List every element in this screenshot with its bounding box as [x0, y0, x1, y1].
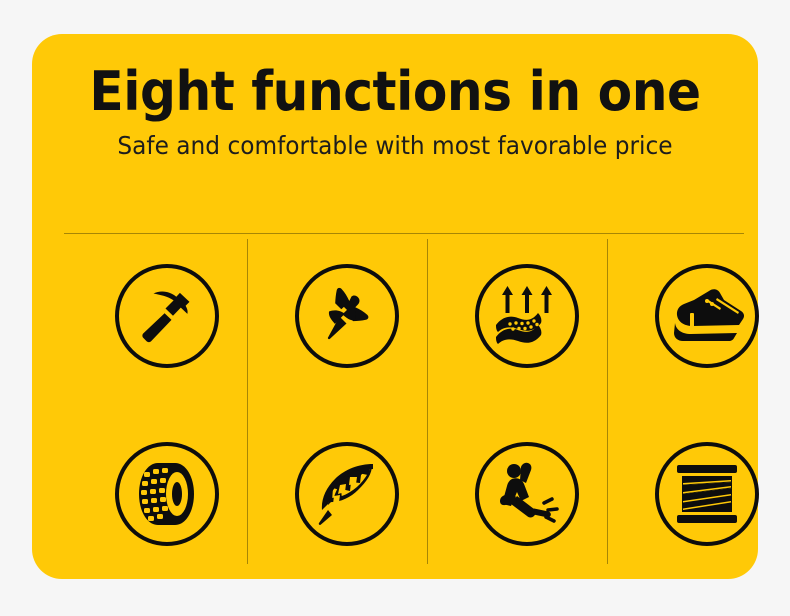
- spring-icon: [674, 461, 740, 527]
- icon-circle: [655, 442, 759, 546]
- page-subtitle: Safe and comfortable with most favorable…: [57, 130, 732, 162]
- feature-cell-push-pin[interactable]: [257, 227, 437, 405]
- icon-circle: [655, 264, 759, 368]
- push-pin-icon: [312, 281, 382, 351]
- page-title: Eight functions in one: [57, 62, 732, 122]
- feature-cell-hammer[interactable]: [77, 227, 257, 405]
- poster-stage: Eight functions in one Safe and comforta…: [0, 0, 790, 616]
- feature-cell-anti-slip[interactable]: [437, 405, 617, 583]
- icon-circle: [295, 264, 399, 368]
- hammer-icon: [131, 280, 203, 352]
- icon-circle: [115, 264, 219, 368]
- feature-card: Eight functions in one Safe and comforta…: [32, 34, 758, 579]
- feature-cell-spring[interactable]: [617, 405, 790, 583]
- tire-icon: [132, 459, 202, 529]
- icon-circle: [475, 442, 579, 546]
- feature-cell-breathable[interactable]: [437, 227, 617, 405]
- breathable-fabric-icon: [490, 279, 564, 353]
- icon-circle: [475, 264, 579, 368]
- feather-icon: [311, 458, 383, 530]
- feature-cell-safety-shoe[interactable]: [617, 227, 790, 405]
- card-heading: Eight functions in one Safe and comforta…: [32, 62, 758, 162]
- feature-grid: [55, 205, 735, 565]
- slip-fall-icon: [491, 458, 563, 530]
- safety-shoe-icon: [669, 281, 745, 351]
- icon-circle: [295, 442, 399, 546]
- icon-circle: [115, 442, 219, 546]
- feature-cell-feather[interactable]: [257, 405, 437, 583]
- feature-cell-tire[interactable]: [77, 405, 257, 583]
